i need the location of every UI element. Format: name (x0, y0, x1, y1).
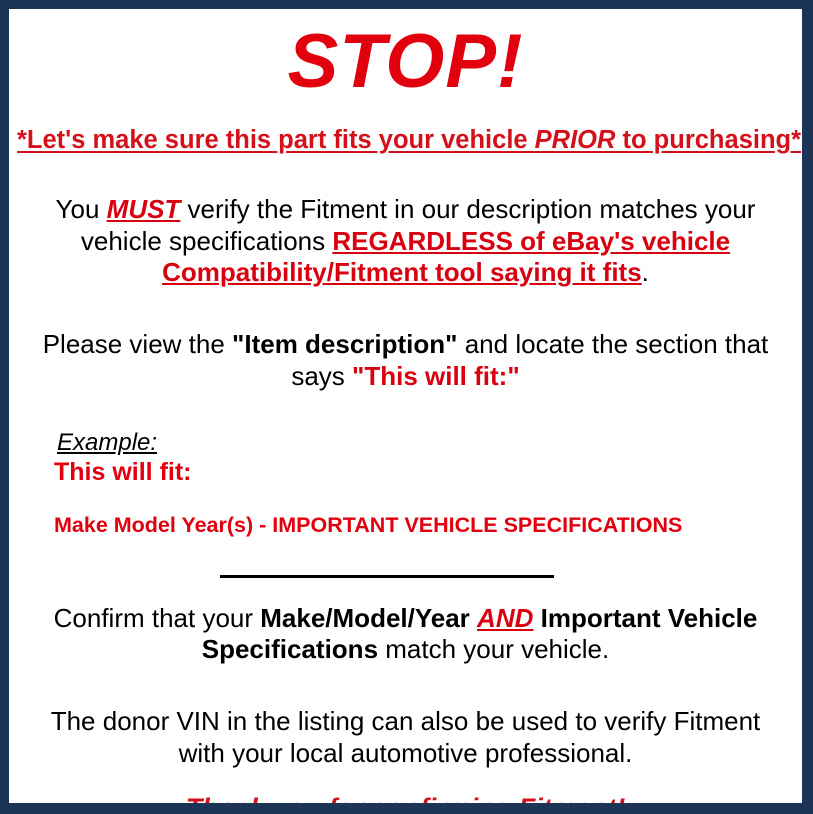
example-spec-line: Make Model Year(s) - IMPORTANT VEHICLE S… (54, 513, 802, 538)
fitment-notice-border: STOP! *Let's make sure this part fits yo… (0, 0, 813, 814)
subtitle-text-before: *Let's make sure this part fits your veh… (17, 126, 535, 154)
must-text-3: . (642, 257, 649, 287)
confirm-paragraph: Confirm that your Make/Model/Year AND Im… (9, 603, 802, 666)
must-text-1: You (56, 194, 107, 224)
confirm-text-1: Confirm that your (54, 603, 261, 633)
item-description-paragraph: Please view the "Item description" and l… (9, 329, 802, 392)
fitment-notice-card: STOP! *Let's make sure this part fits yo… (9, 9, 802, 803)
closing-thank-you: Thank you for confirming Fitment! (9, 792, 802, 803)
example-fit-heading: This will fit: (54, 458, 802, 487)
fitment-subtitle: *Let's make sure this part fits your veh… (9, 126, 802, 154)
item-description-emphasis: "Item description" (232, 329, 457, 359)
subtitle-text-after: to purchasing* (615, 126, 801, 154)
and-emphasis: AND (477, 603, 533, 633)
must-emphasis: MUST (107, 194, 181, 224)
subtitle-prior-emphasis: PRIOR (535, 126, 616, 154)
this-will-fit-emphasis: "This will fit:" (352, 361, 520, 391)
make-model-year-emphasis: Make/Model/Year (260, 603, 470, 633)
stop-headline: STOP! (9, 24, 802, 100)
example-block: Example: This will fit: Make Model Year(… (9, 429, 802, 538)
example-label: Example: (57, 429, 157, 457)
confirm-space-1 (470, 603, 477, 633)
section-divider-wrap (9, 565, 802, 569)
view-text-1: Please view the (43, 329, 232, 359)
confirm-text-2: match your vehicle. (378, 634, 609, 664)
donor-vin-paragraph: The donor VIN in the listing can also be… (9, 706, 802, 769)
section-divider (220, 575, 554, 578)
confirm-space-2 (533, 603, 540, 633)
must-verify-paragraph: You MUST verify the Fitment in our descr… (9, 194, 802, 289)
